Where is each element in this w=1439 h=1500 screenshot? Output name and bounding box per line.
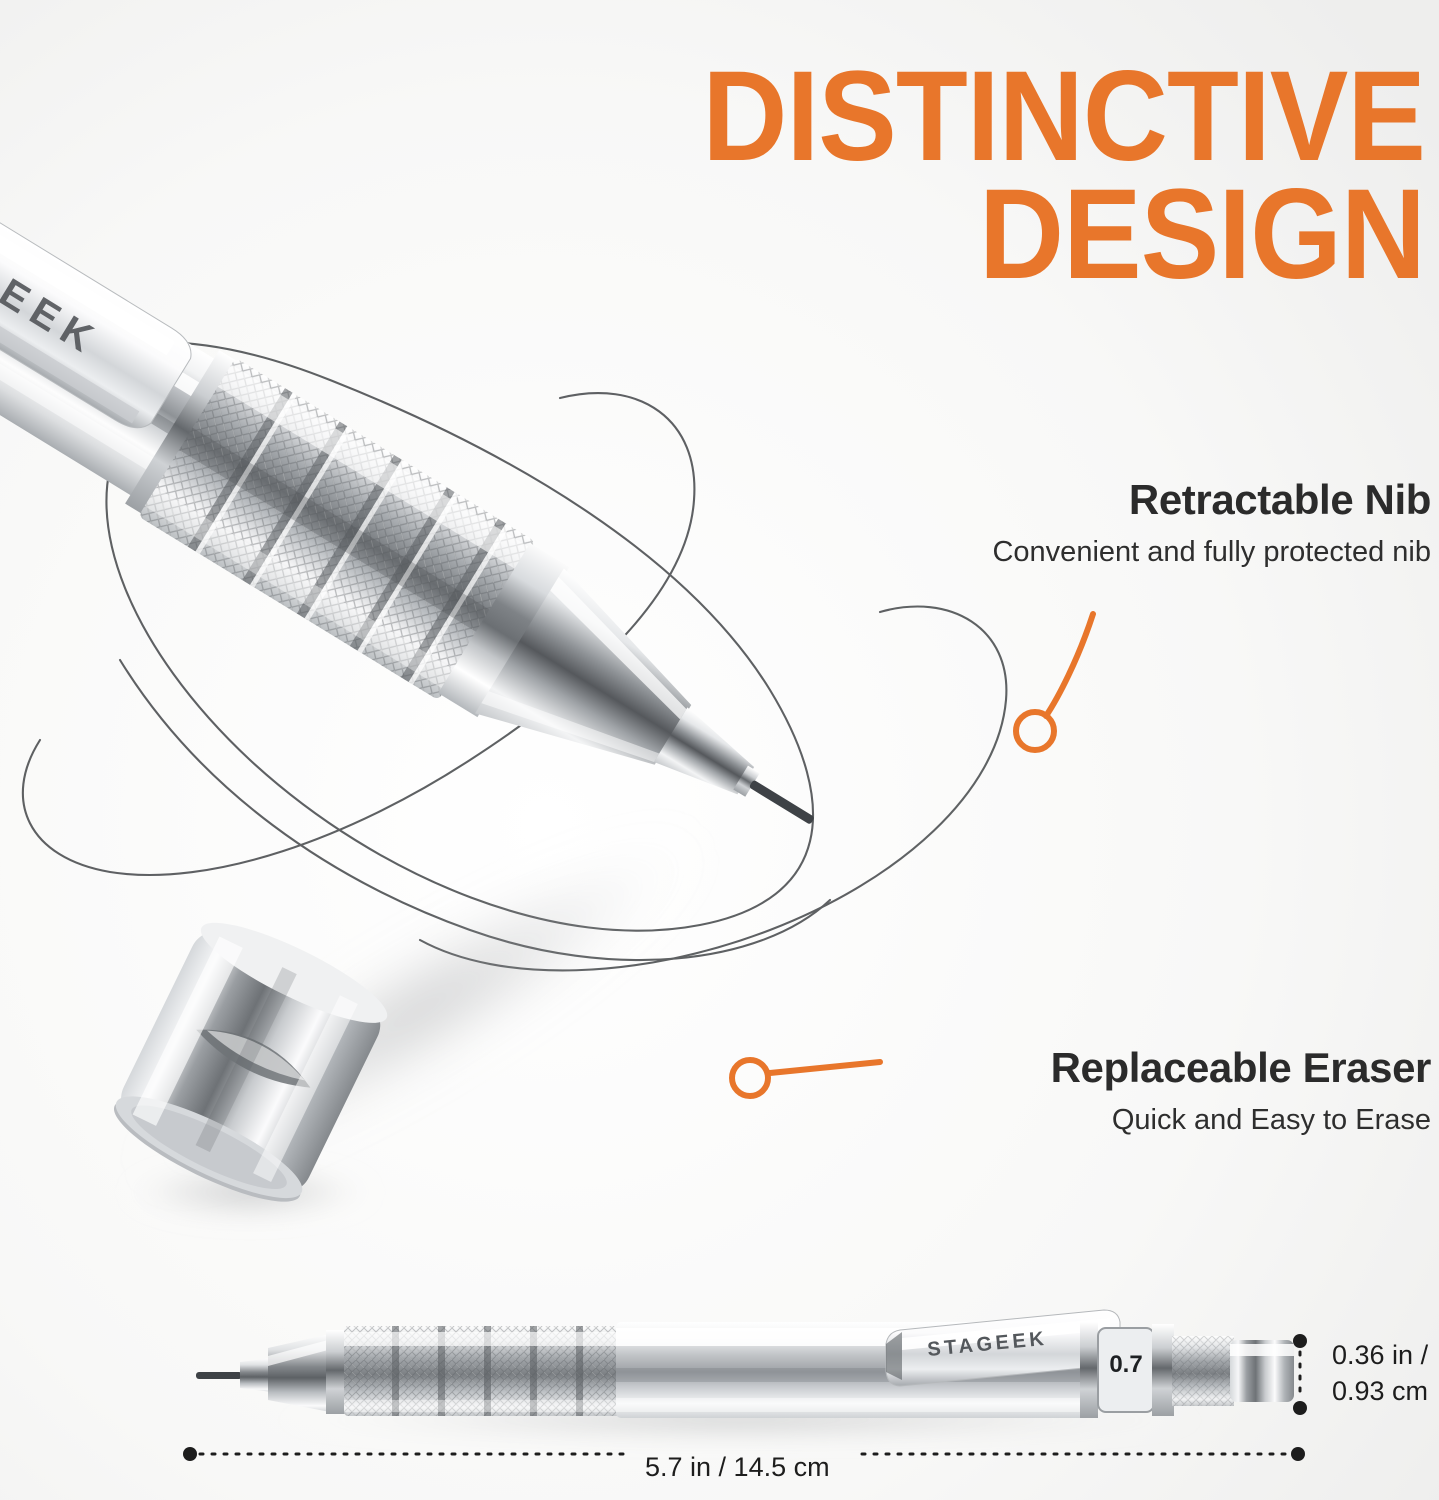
dimension-length-end-dot — [1291, 1447, 1305, 1461]
page-title: DISTINCTIVE DESIGN — [413, 58, 1425, 294]
dimension-length-start-dot — [183, 1447, 197, 1461]
callout-subtitle-replaceable-eraser: Quick and Easy to Erase — [1051, 1104, 1431, 1137]
callout-replaceable-eraser: Replaceable Eraser Quick and Easy to Era… — [1051, 1046, 1431, 1137]
callout-title-retractable-nib: Retractable Nib — [992, 478, 1431, 522]
marketing-image-canvas: STAGEEK — [0, 0, 1439, 1500]
bottom-pencil-lead — [196, 1372, 242, 1379]
headline-line-2: DESIGN — [413, 176, 1425, 294]
dimension-diameter-label: 0.36 in / 0.93 cm — [1332, 1338, 1428, 1409]
dimension-length-label: 5.7 in / 14.5 cm — [645, 1452, 830, 1483]
headline-line-1: DISTINCTIVE — [413, 58, 1425, 176]
bottom-pencil-grip — [344, 1326, 620, 1416]
callout-subtitle-retractable-nib: Convenient and fully protected nib — [992, 536, 1431, 569]
lead-size-window-bottom: 0.7 — [1098, 1328, 1154, 1412]
dimension-diameter-bottom-dot — [1293, 1401, 1307, 1415]
dimension-diameter-label-line-2: 0.93 cm — [1332, 1374, 1428, 1410]
lead-size-label-bottom: 0.7 — [1109, 1351, 1142, 1378]
callout-title-replaceable-eraser: Replaceable Eraser — [1051, 1046, 1431, 1090]
dimension-diameter-label-line-1: 0.36 in / — [1332, 1338, 1428, 1374]
callout-retractable-nib: Retractable Nib Convenient and fully pro… — [992, 478, 1431, 569]
dimension-diameter-top-dot — [1293, 1334, 1307, 1348]
